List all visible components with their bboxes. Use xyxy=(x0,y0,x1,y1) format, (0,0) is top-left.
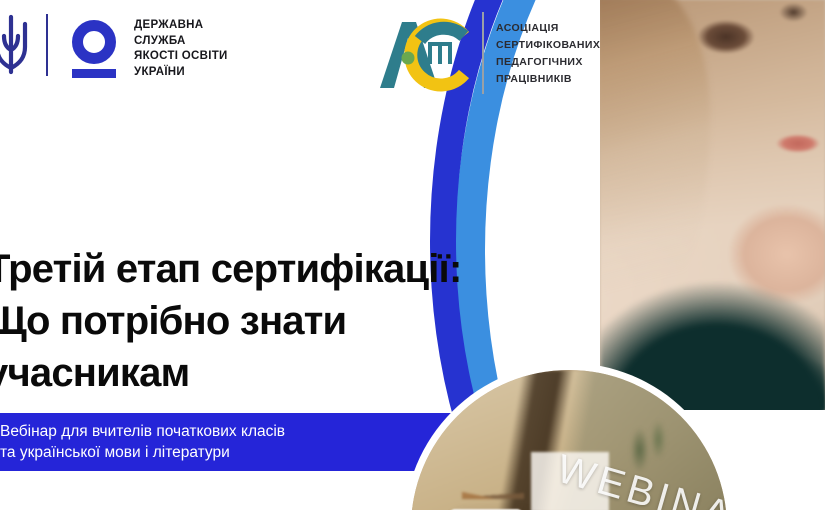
circle-bar-logo-icon xyxy=(72,20,120,76)
subtitle-text: Вебінар для вчителів початкових класів т… xyxy=(0,421,285,463)
logo-bar xyxy=(72,69,116,78)
acpp-logo-divider xyxy=(482,12,484,94)
ukraine-trident-icon xyxy=(0,14,32,76)
header-logos: ДЕРЖАВНА СЛУЖБА ЯКОСТІ ОСВІТИ УКРАЇНИ АС xyxy=(0,0,660,110)
webinar-circle-photo: WEBINA xyxy=(404,363,734,510)
gov-logo-text: ДЕРЖАВНА СЛУЖБА ЯКОСТІ ОСВІТИ УКРАЇНИ xyxy=(134,18,228,80)
acpp-monogram-icon xyxy=(376,16,472,92)
pencil-cup-icon xyxy=(462,433,524,499)
screen-badge-icon xyxy=(689,383,705,399)
logo-ring xyxy=(72,20,116,64)
acpp-logo-text: АСОЦІАЦІЯ СЕРТИФІКОВАНИХ ПЕДАГОГІЧНИХ ПР… xyxy=(496,20,600,88)
webinar-banner: ДЕРЖАВНА СЛУЖБА ЯКОСТІ ОСВІТИ УКРАЇНИ АС xyxy=(0,0,825,510)
logo-divider xyxy=(46,14,48,76)
webinar-circle-photo-inner: WEBINA xyxy=(411,370,727,510)
